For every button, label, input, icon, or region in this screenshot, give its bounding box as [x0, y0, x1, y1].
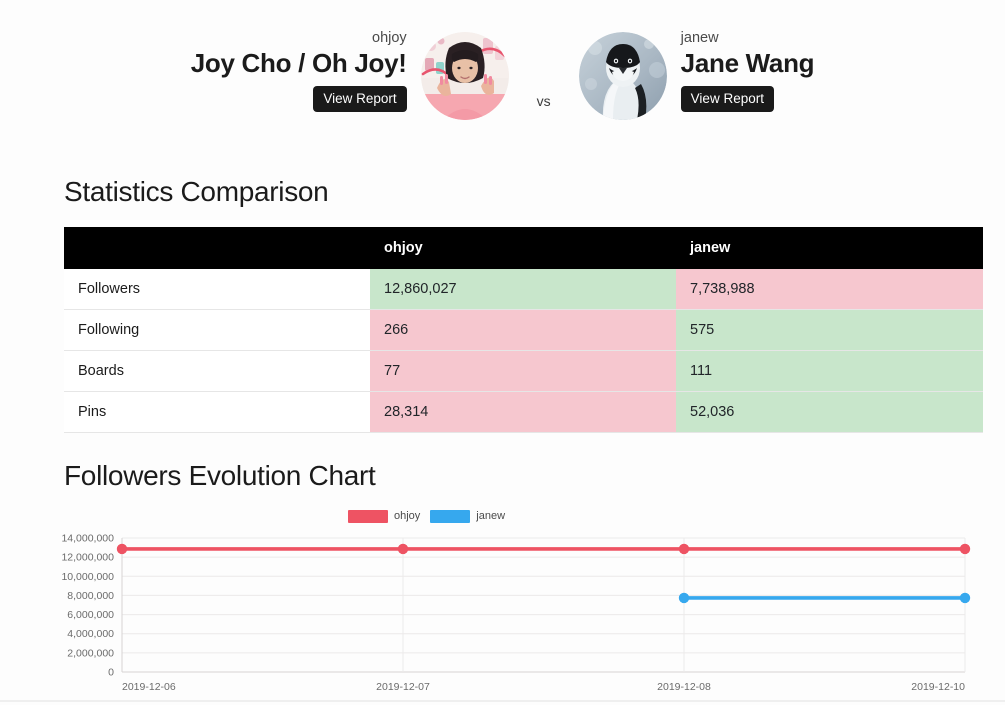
x-axis-tick-label: 2019-12-10 — [911, 681, 965, 693]
chart-point-ohjoy[interactable] — [398, 544, 408, 554]
y-axis-tick-label: 12,000,000 — [61, 552, 114, 564]
profile-left-fullname: Joy Cho / Oh Joy! — [191, 49, 407, 78]
legend-item-ohjoy[interactable]: ohjoy — [348, 510, 420, 523]
cell-janew-pins: 52,036 — [676, 392, 983, 433]
comparison-header: ohjoy Joy Cho / Oh Joy! View Report — [0, 0, 1005, 130]
statistics-table-wrapper: ohjoy janew Followers 12,860,027 7,738,9… — [0, 227, 1005, 433]
profile-left-text: ohjoy Joy Cho / Oh Joy! View Report — [191, 30, 407, 112]
y-axis-tick-label: 6,000,000 — [67, 609, 114, 621]
legend-label-ohjoy: ohjoy — [394, 510, 420, 522]
y-axis-tick-label: 0 — [108, 667, 114, 679]
profile-right: janew Jane Wang View Report — [579, 30, 815, 120]
legend-swatch-ohjoy — [348, 510, 388, 523]
legend-item-janew[interactable]: janew — [430, 510, 505, 523]
profile-right-fullname: Jane Wang — [681, 49, 815, 78]
followers-evolution-chart-title: Followers Evolution Chart — [0, 460, 1005, 492]
y-axis-tick-label: 8,000,000 — [67, 590, 114, 602]
cell-ohjoy-boards: 77 — [370, 351, 676, 392]
table-row: Followers 12,860,027 7,738,988 — [64, 269, 983, 310]
row-label-following: Following — [64, 310, 370, 351]
table-row: Following 266 575 — [64, 310, 983, 351]
cell-janew-following: 575 — [676, 310, 983, 351]
y-axis-tick-label: 2,000,000 — [67, 647, 114, 659]
cell-janew-followers: 7,738,988 — [676, 269, 983, 310]
legend-label-janew: janew — [476, 510, 505, 522]
view-report-button-right[interactable]: View Report — [681, 86, 774, 113]
chart-plot-area[interactable]: 02,000,0004,000,0006,000,0008,000,00010,… — [40, 530, 983, 705]
avatar-janew[interactable] — [579, 32, 667, 120]
vs-label: vs — [537, 93, 551, 109]
view-report-button-left[interactable]: View Report — [313, 86, 406, 113]
column-header-janew: janew — [676, 227, 983, 269]
chart-point-ohjoy[interactable] — [117, 544, 127, 554]
x-axis-tick-label: 2019-12-07 — [376, 681, 430, 693]
profile-right-handle: janew — [681, 30, 719, 47]
chart-point-ohjoy[interactable] — [679, 544, 689, 554]
profile-left: ohjoy Joy Cho / Oh Joy! View Report — [191, 30, 509, 120]
chart-point-janew[interactable] — [960, 593, 970, 603]
table-row: Boards 77 111 — [64, 351, 983, 392]
chart-point-ohjoy[interactable] — [960, 544, 970, 554]
cell-ohjoy-following: 266 — [370, 310, 676, 351]
chart-legend: ohjoy janew — [40, 506, 983, 526]
statistics-comparison-title: Statistics Comparison — [0, 176, 1005, 208]
table-header-row: ohjoy janew — [64, 227, 983, 269]
profile-right-text: janew Jane Wang View Report — [681, 30, 815, 112]
chart-point-janew[interactable] — [679, 593, 689, 603]
column-header-metric — [64, 227, 370, 269]
y-axis-tick-label: 10,000,000 — [61, 571, 114, 583]
y-axis-tick-label: 14,000,000 — [61, 533, 114, 545]
y-axis-tick-label: 4,000,000 — [67, 628, 114, 640]
avatar-ohjoy[interactable] — [421, 32, 509, 120]
column-header-ohjoy: ohjoy — [370, 227, 676, 269]
table-head: ohjoy janew — [64, 227, 983, 269]
row-label-pins: Pins — [64, 392, 370, 433]
table-row: Pins 28,314 52,036 — [64, 392, 983, 433]
row-label-followers: Followers — [64, 269, 370, 310]
row-label-boards: Boards — [64, 351, 370, 392]
legend-swatch-janew — [430, 510, 470, 523]
table-body: Followers 12,860,027 7,738,988 Following… — [64, 269, 983, 433]
x-axis-tick-label: 2019-12-06 — [122, 681, 176, 693]
statistics-comparison-table: ohjoy janew Followers 12,860,027 7,738,9… — [64, 227, 983, 433]
cell-janew-boards: 111 — [676, 351, 983, 392]
followers-evolution-chart: ohjoy janew 02,000,0004,000,0006,000,000… — [0, 506, 1005, 705]
profile-left-handle: ohjoy — [372, 30, 407, 47]
cell-ohjoy-followers: 12,860,027 — [370, 269, 676, 310]
x-axis-tick-label: 2019-12-08 — [657, 681, 711, 693]
cell-ohjoy-pins: 28,314 — [370, 392, 676, 433]
